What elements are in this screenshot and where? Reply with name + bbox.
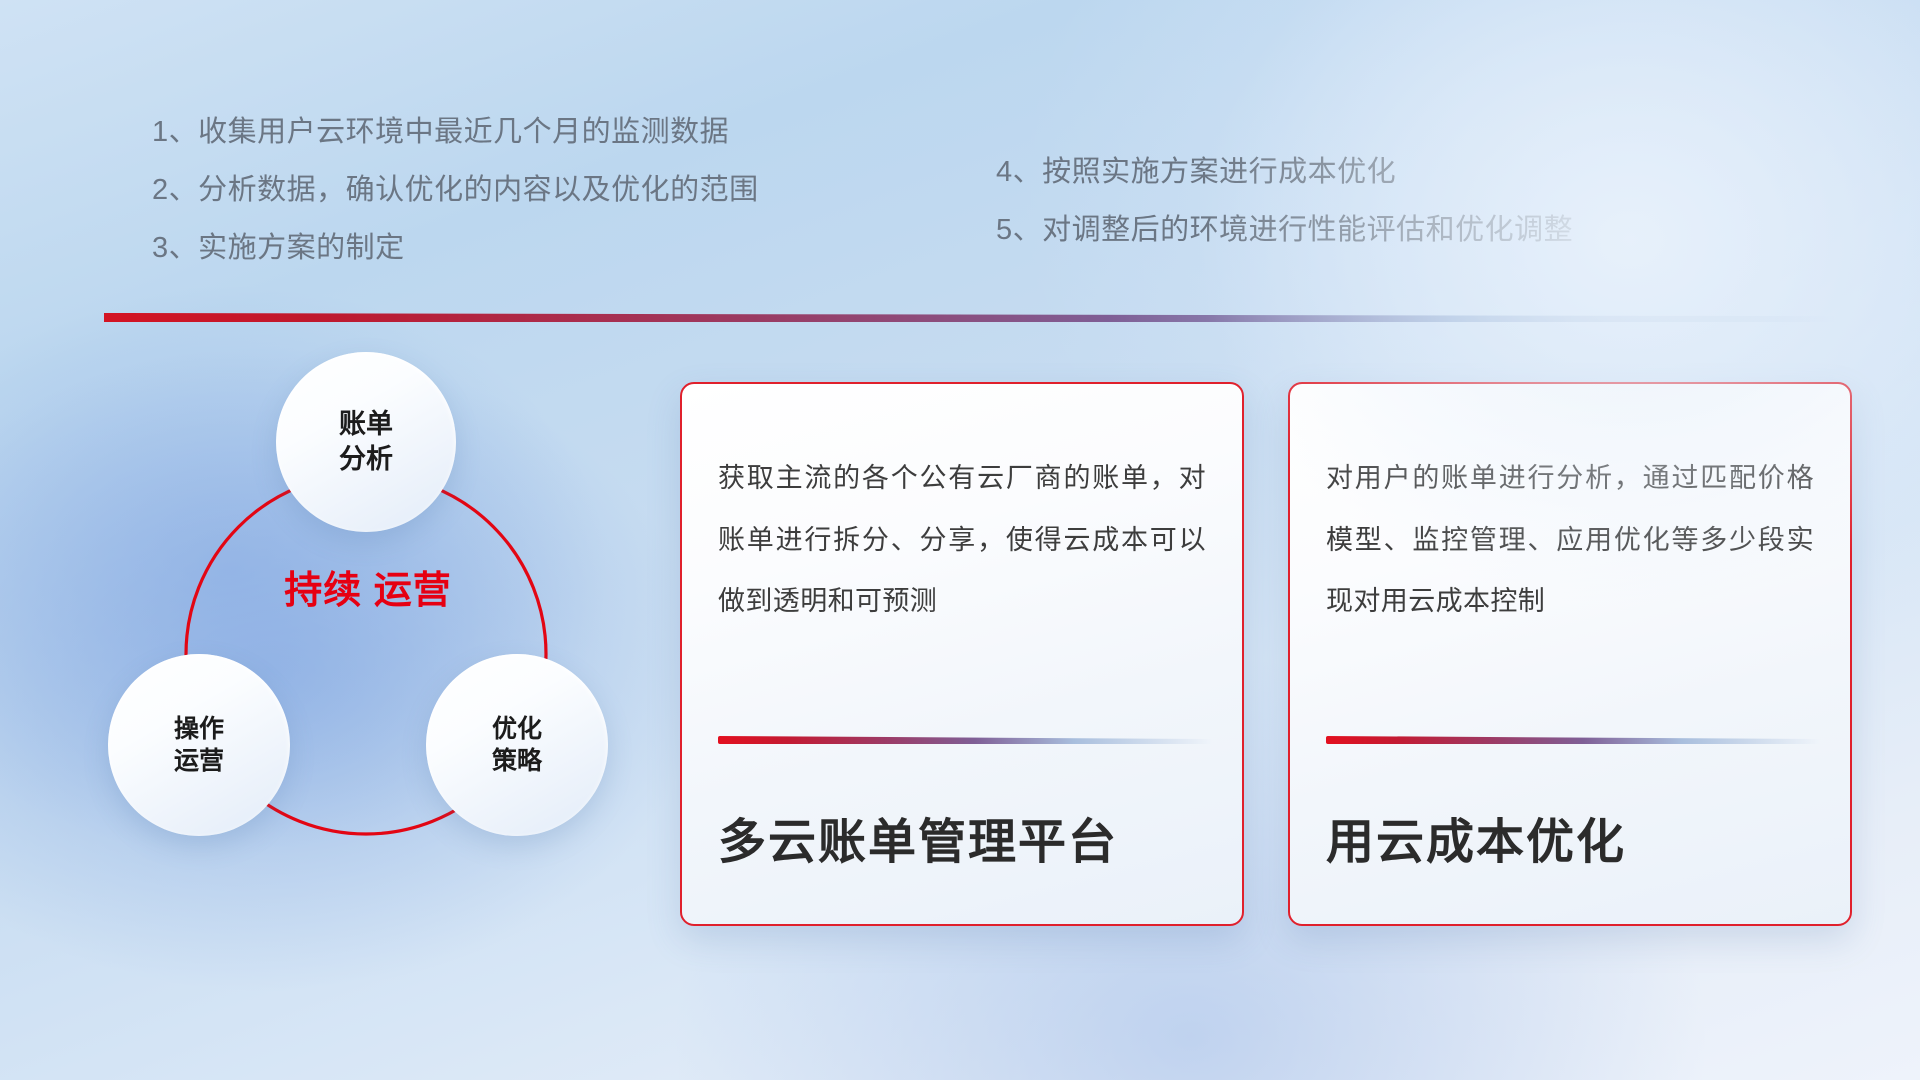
continuous-operation-diagram: 持续 运营 账单 分析 操作 运营 优化 策略 <box>96 352 656 952</box>
bubble-label-line-2: 运营 <box>174 745 224 777</box>
card-title: 用云成本优化 <box>1326 802 1820 872</box>
bubble-label-line-1: 操作 <box>174 713 224 745</box>
bubble-label-line-1: 账单 <box>339 407 393 442</box>
diagram-bubble-optimization-strategy[interactable]: 优化 策略 <box>426 654 608 836</box>
step-item: 2、分析数据，确认优化的内容以及优化的范围 <box>152 176 759 205</box>
section-divider <box>104 313 1834 322</box>
bubble-label-line-1: 优化 <box>492 713 542 745</box>
card-body-text: 获取主流的各个公有云厂商的账单，对账单进行拆分、分享，使得云成本可以做到透明和可… <box>718 448 1206 633</box>
center-label-line-2: 运营 <box>374 570 452 612</box>
card-accent-rule <box>1326 736 1820 744</box>
center-label-line-1: 持续 <box>284 570 362 612</box>
steps-right-column: 4、按照实施方案进行成本优化 5、对调整后的环境进行性能评估和优化调整 <box>996 158 1573 274</box>
bubble-label-line-2: 策略 <box>492 745 542 777</box>
card-body-text: 对用户的账单进行分析，通过匹配价格模型、监控管理、应用优化等多少段实现对用云成本… <box>1326 448 1814 633</box>
bubble-label-line-2: 分析 <box>339 442 393 477</box>
step-item: 4、按照实施方案进行成本优化 <box>996 158 1573 187</box>
diagram-bubble-operations[interactable]: 操作 运营 <box>108 654 290 836</box>
diagram-center-label: 持续 运营 <box>282 568 454 614</box>
card-title: 多云账单管理平台 <box>718 802 1212 872</box>
step-item: 3、实施方案的制定 <box>152 234 759 263</box>
feature-card-cloud-cost-optimization[interactable]: 对用户的账单进行分析，通过匹配价格模型、监控管理、应用优化等多少段实现对用云成本… <box>1288 382 1852 926</box>
diagram-bubble-bill-analysis[interactable]: 账单 分析 <box>276 352 456 532</box>
slide-canvas: 1、收集用户云环境中最近几个月的监测数据 2、分析数据，确认优化的内容以及优化的… <box>0 0 1920 1080</box>
steps-left-column: 1、收集用户云环境中最近几个月的监测数据 2、分析数据，确认优化的内容以及优化的… <box>152 118 759 292</box>
feature-card-multicloud-billing[interactable]: 获取主流的各个公有云厂商的账单，对账单进行拆分、分享，使得云成本可以做到透明和可… <box>680 382 1244 926</box>
step-item: 1、收集用户云环境中最近几个月的监测数据 <box>152 118 759 147</box>
step-item: 5、对调整后的环境进行性能评估和优化调整 <box>996 216 1573 245</box>
card-accent-rule <box>718 736 1212 744</box>
